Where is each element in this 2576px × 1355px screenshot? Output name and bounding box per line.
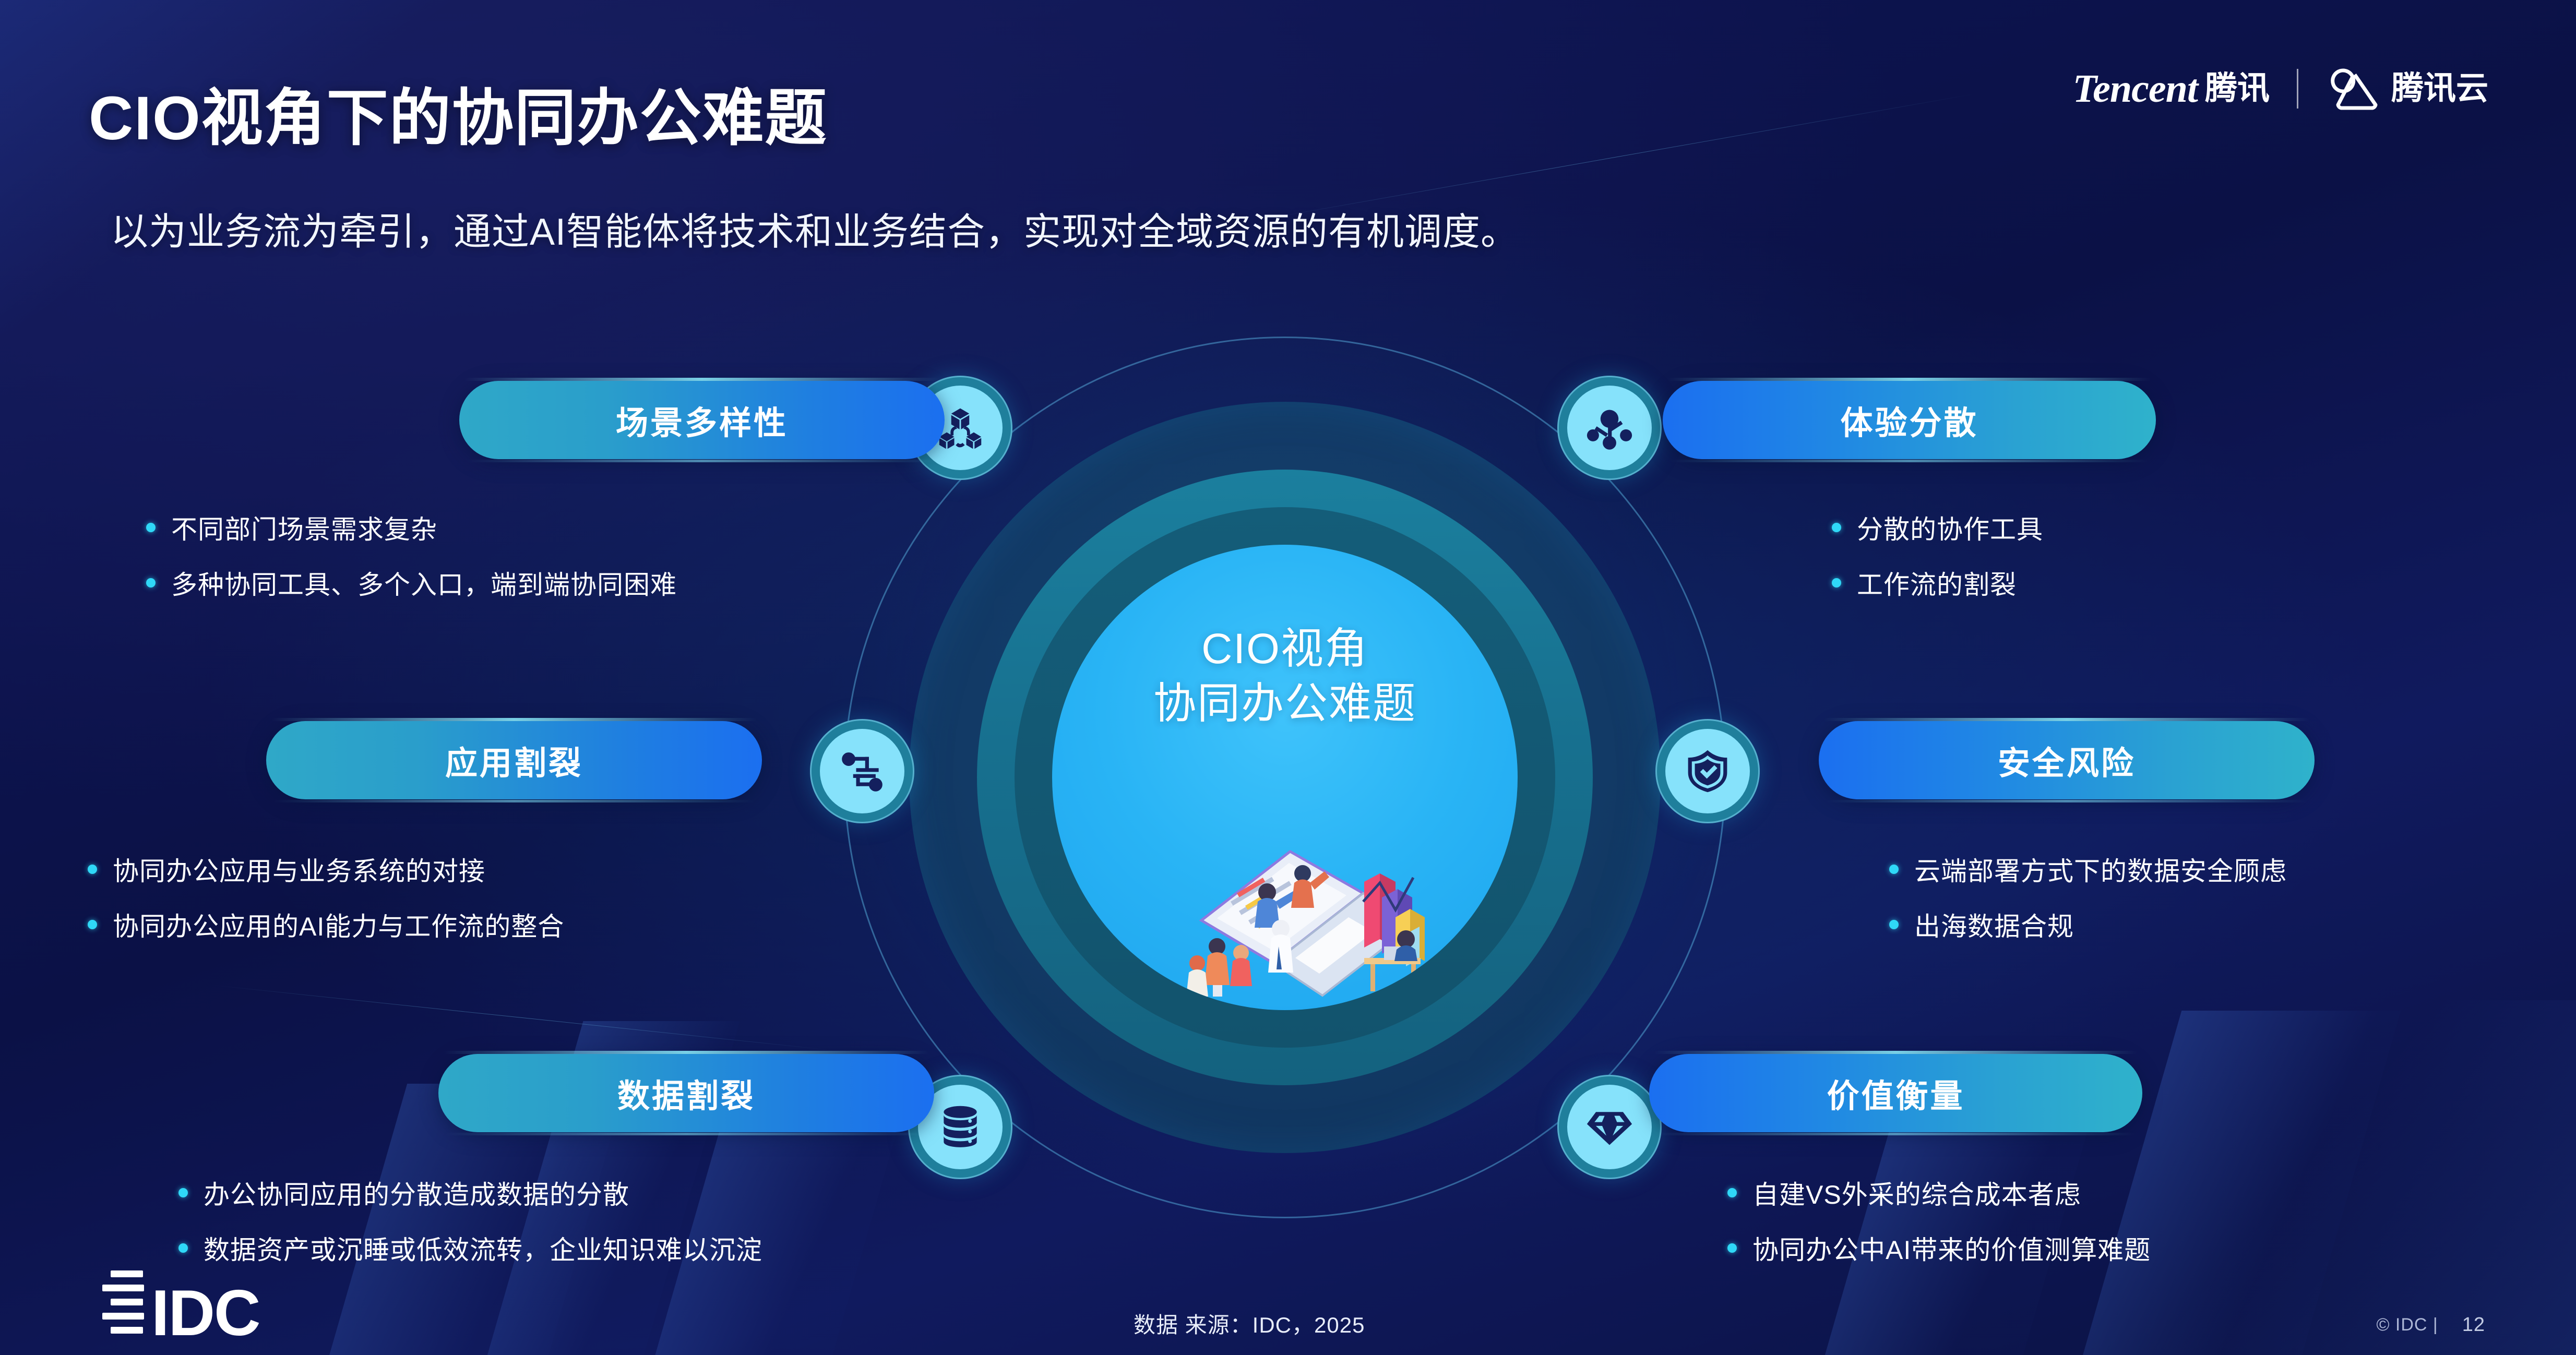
bullet-item: 协同办公中AI带来的价值测算难题: [1727, 1229, 2151, 1267]
pill-label: 体验分散: [1840, 397, 1978, 443]
bullet-text: 分散的协作工具: [1857, 509, 2043, 546]
bullet-text: 协同办公中AI带来的价值测算难题: [1752, 1229, 2151, 1267]
pill-application-fragmentation[interactable]: 应用割裂: [266, 721, 762, 799]
node-workflow-split[interactable]: [810, 719, 914, 823]
slide-canvas: CIO视角下的协同办公难题 以为业务流为牵引，通过AI智能体将技术和业务结合，实…: [0, 0, 2576, 1355]
node-shield-check[interactable]: [1655, 719, 1760, 823]
pill-experience-fragmentation[interactable]: 体验分散: [1663, 381, 2156, 459]
bullet-item: 数据资产或沉睡或低效流转，企业知识难以沉淀: [178, 1229, 762, 1267]
pill-data-fragmentation[interactable]: 数据割裂: [438, 1054, 934, 1132]
logo-divider: [2297, 69, 2298, 109]
pill-label: 应用割裂: [445, 737, 583, 784]
bullet-dot-icon: [1832, 523, 1841, 532]
bullets-application-fragmentation: 协同办公应用与业务系统的对接 协同办公应用的AI能力与工作流的整合: [88, 850, 564, 961]
bullets-security-risk: 云端部署方式下的数据安全顾虑 出海数据合规: [1889, 850, 2287, 961]
tencent-cloud-chinese-name: 腾讯云: [2391, 73, 2488, 105]
bullet-dot-icon: [1832, 578, 1841, 587]
node-diamond[interactable]: [1557, 1075, 1662, 1179]
bullets-value-measurement: 自建VS外采的综合成本者虑 协同办公中AI带来的价值测算难题: [1727, 1174, 2151, 1285]
pill-label: 安全风险: [1998, 737, 2136, 784]
brand-logos: Tencent 腾讯 腾讯云: [2073, 64, 2488, 114]
bullet-dot-icon: [1727, 1188, 1737, 1197]
tencent-cloud-icon: [2325, 65, 2380, 113]
core-label-line2: 协同办公难题: [1052, 677, 1518, 732]
isometric-laptop-teamwork-illustration: [1139, 790, 1431, 999]
idc-bars-icon: [102, 1267, 144, 1341]
data-source-note: 数据 来源：IDC，2025: [1134, 1308, 1365, 1339]
bullet-dot-icon: [146, 578, 156, 587]
bullet-item: 不同部门场景需求复杂: [146, 509, 677, 546]
pill-label: 价值衡量: [1827, 1070, 1964, 1117]
bullet-text: 数据资产或沉睡或低效流转，企业知识难以沉淀: [204, 1229, 762, 1267]
node-share-nodes[interactable]: [1557, 376, 1662, 480]
workflow-split-icon: [820, 729, 904, 813]
bullet-text: 协同办公应用的AI能力与工作流的整合: [113, 906, 564, 943]
bullet-text: 自建VS外采的综合成本者虑: [1752, 1174, 2081, 1212]
core-label-line1: CIO视角: [1052, 622, 1518, 677]
pill-label: 数据割裂: [617, 1070, 755, 1117]
tencent-chinese-name: 腾讯: [2205, 73, 2270, 105]
bullet-item: 协同办公应用与业务系统的对接: [88, 850, 564, 888]
bullet-item: 多种协同工具、多个入口，端到端协同困难: [146, 564, 677, 602]
bullet-text: 办公协同应用的分散造成数据的分散: [204, 1174, 629, 1212]
bullet-item: 出海数据合规: [1889, 906, 2287, 943]
copyright-text: © IDC |: [2376, 1315, 2438, 1335]
concentric-diagram: CIO视角 协同办公难题: [831, 323, 1739, 1231]
bullet-text: 多种协同工具、多个入口，端到端协同困难: [171, 564, 677, 602]
bullet-text: 协同办公应用与业务系统的对接: [113, 850, 485, 888]
bullet-text: 工作流的割裂: [1857, 564, 2017, 602]
bullet-dot-icon: [146, 523, 156, 532]
bullets-scene-diversity: 不同部门场景需求复杂 多种协同工具、多个入口，端到端协同困难: [146, 509, 677, 619]
bullet-item: 协同办公应用的AI能力与工作流的整合: [88, 906, 564, 943]
bullet-dot-icon: [1727, 1243, 1737, 1253]
diamond-icon: [1567, 1085, 1652, 1169]
slide-header: CIO视角下的协同办公难题 以为业务流为牵引，通过AI智能体将技术和业务结合，实…: [0, 0, 2576, 271]
bullet-item: 工作流的割裂: [1832, 564, 2043, 602]
bullet-dot-icon: [1889, 865, 1899, 874]
bullet-dot-icon: [88, 865, 97, 874]
diagram-core-circle: CIO视角 协同办公难题: [1052, 545, 1518, 1010]
bullet-dot-icon: [1889, 920, 1899, 929]
page-title: CIO视角下的协同办公难题: [89, 68, 828, 157]
bullets-data-fragmentation: 办公协同应用的分散造成数据的分散 数据资产或沉睡或低效流转，企业知识难以沉淀: [178, 1174, 762, 1285]
bg-glow-line-2: [210, 985, 833, 1050]
pill-label: 场景多样性: [616, 397, 788, 443]
bullet-text: 出海数据合规: [1914, 906, 2074, 943]
tencent-wordmark: Tencent: [2073, 69, 2198, 109]
copyright-block: © IDC | 12: [2376, 1314, 2485, 1336]
bullet-item: 办公协同应用的分散造成数据的分散: [178, 1174, 762, 1212]
bullets-experience-fragmentation: 分散的协作工具 工作流的割裂: [1832, 509, 2043, 619]
idc-wordmark: IDC: [151, 1286, 260, 1341]
bullet-dot-icon: [88, 920, 97, 929]
share-nodes-icon: [1567, 386, 1652, 470]
pill-scene-diversity[interactable]: 场景多样性: [459, 381, 945, 459]
bullet-dot-icon: [178, 1243, 188, 1253]
idc-logo: IDC: [102, 1267, 260, 1341]
bullet-dot-icon: [178, 1188, 188, 1197]
bullet-text: 云端部署方式下的数据安全顾虑: [1914, 850, 2287, 888]
page-subtitle: 以为业务流为牵引，通过AI智能体将技术和业务结合，实现对全域资源的有机调度。: [111, 201, 1519, 256]
bullet-item: 云端部署方式下的数据安全顾虑: [1889, 850, 2287, 888]
bullet-text: 不同部门场景需求复杂: [171, 509, 437, 546]
bullet-item: 自建VS外采的综合成本者虑: [1727, 1174, 2151, 1212]
bullet-item: 分散的协作工具: [1832, 509, 2043, 546]
shield-check-icon: [1665, 729, 1750, 813]
pill-security-risk[interactable]: 安全风险: [1819, 721, 2315, 799]
pill-value-measurement[interactable]: 价值衡量: [1649, 1054, 2142, 1132]
page-number: 12: [2462, 1314, 2485, 1336]
core-label: CIO视角 协同办公难题: [1052, 622, 1518, 732]
